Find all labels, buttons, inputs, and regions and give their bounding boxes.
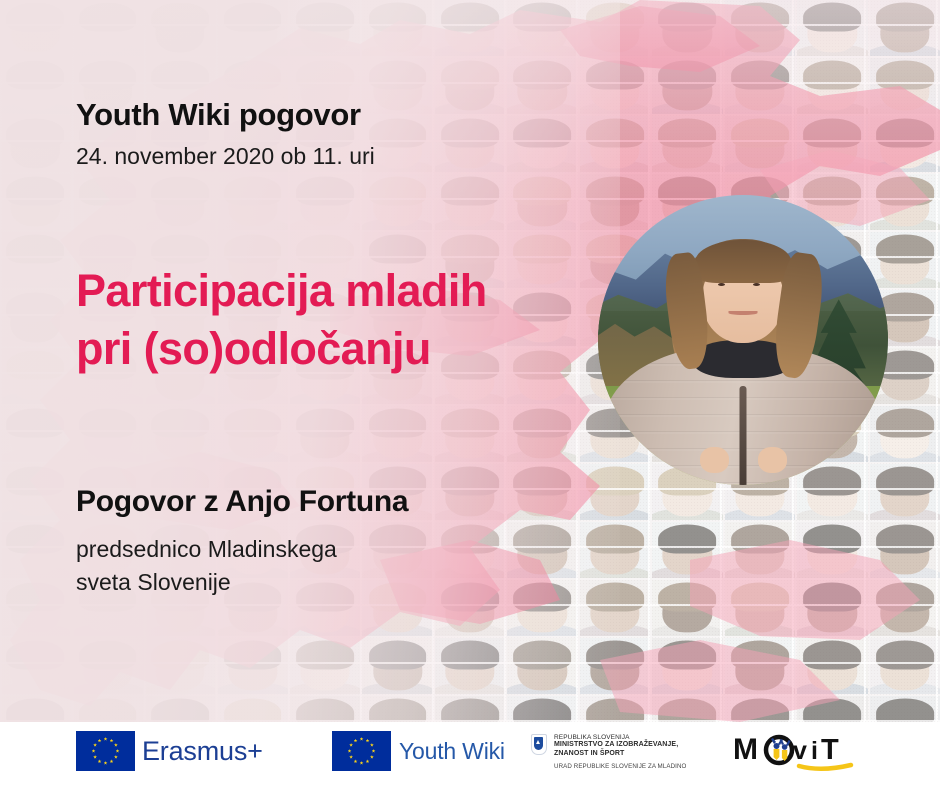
collage-face-tile xyxy=(145,406,215,462)
collage-face-tile xyxy=(72,638,142,694)
portrait-hair-top xyxy=(695,240,791,284)
collage-face-tile xyxy=(217,0,287,56)
collage-face-tile xyxy=(507,232,577,288)
collage-face-tile xyxy=(435,638,505,694)
event-poster: Youth Wiki pogovor 24. november 2020 ob … xyxy=(0,0,940,788)
collage-face-tile xyxy=(797,116,867,172)
collage-face-tile xyxy=(652,0,722,56)
page-title: Youth Wiki pogovor xyxy=(76,99,361,132)
svg-text:v: v xyxy=(793,737,807,765)
movit-logo: M v i T xyxy=(733,728,861,778)
collage-face-tile xyxy=(507,638,577,694)
collage-face-tile xyxy=(580,58,650,114)
collage-face-tile xyxy=(507,580,577,636)
footer-logo-bar: Erasmus+ Youth Wiki REPUBLIKA SLOVENIJA … xyxy=(0,722,940,788)
collage-face-tile xyxy=(725,638,795,694)
collage-face-tile xyxy=(580,0,650,56)
collage-face-tile xyxy=(0,580,70,636)
collage-face-tile xyxy=(0,58,70,114)
collage-face-tile xyxy=(145,0,215,56)
collage-face-tile xyxy=(652,58,722,114)
collage-face-tile xyxy=(217,406,287,462)
portrait-mouth xyxy=(729,311,758,315)
collage-face-tile xyxy=(725,580,795,636)
collage-face-tile xyxy=(362,0,432,56)
collage-face-tile xyxy=(435,522,505,578)
collage-face-tile xyxy=(290,406,360,462)
collage-face-tile xyxy=(797,0,867,56)
collage-face-tile xyxy=(870,0,940,56)
collage-face-tile xyxy=(290,696,360,722)
collage-face-tile xyxy=(72,696,142,722)
collage-face-tile xyxy=(72,0,142,56)
collage-face-tile xyxy=(797,58,867,114)
collage-face-tile xyxy=(0,232,70,288)
event-datetime: 24. november 2020 ob 11. uri xyxy=(76,143,375,169)
collage-face-tile xyxy=(580,116,650,172)
youth-wiki-logo: Youth Wiki xyxy=(332,731,505,771)
portrait-hand-left xyxy=(700,447,729,473)
collage-face-tile xyxy=(435,116,505,172)
collage-face-tile xyxy=(507,522,577,578)
speaker-role-line-2: sveta Slovenije xyxy=(76,566,337,599)
collage-face-tile xyxy=(870,638,940,694)
portrait-jacket-zipper xyxy=(740,386,747,485)
collage-face-tile xyxy=(362,174,432,230)
collage-face-tile xyxy=(797,696,867,722)
collage-face-tile xyxy=(362,580,432,636)
collage-face-tile xyxy=(507,290,577,346)
headline-line-2: pri (so)odločanju xyxy=(76,320,487,378)
speaker-portrait xyxy=(598,195,888,485)
collage-face-tile xyxy=(435,696,505,722)
ministry-line-2: MINISTRSTVO ZA IZOBRAŽEVANJE, xyxy=(554,741,686,750)
collage-face-tile xyxy=(725,522,795,578)
collage-face-tile xyxy=(725,58,795,114)
collage-face-tile xyxy=(725,0,795,56)
collage-face-tile xyxy=(435,580,505,636)
speaker-role-line-1: predsednico Mladinskega xyxy=(76,533,337,566)
headline-line-1: Participacija mladih xyxy=(76,262,487,320)
collage-face-tile xyxy=(290,638,360,694)
collage-face-tile xyxy=(507,406,577,462)
ministry-line-1: REPUBLIKA SLOVENIJA xyxy=(554,734,686,741)
collage-face-tile xyxy=(652,638,722,694)
collage-face-tile xyxy=(870,58,940,114)
portrait-hand-right xyxy=(758,447,787,473)
collage-face-tile xyxy=(797,580,867,636)
collage-face-tile xyxy=(0,696,70,722)
ministry-line-4: URAD REPUBLIKE SLOVENIJE ZA MLADINO xyxy=(554,763,686,770)
collage-face-tile xyxy=(145,638,215,694)
collage-face-tile xyxy=(72,174,142,230)
svg-text:M: M xyxy=(733,733,757,766)
collage-face-tile xyxy=(580,696,650,722)
collage-face-tile xyxy=(362,406,432,462)
collage-face-tile xyxy=(362,522,432,578)
collage-face-tile xyxy=(507,696,577,722)
collage-face-tile xyxy=(0,348,70,404)
collage-face-tile xyxy=(362,638,432,694)
eu-flag-icon xyxy=(76,731,135,771)
collage-face-tile xyxy=(0,174,70,230)
collage-face-tile xyxy=(362,58,432,114)
svg-text:T: T xyxy=(821,734,839,766)
headline: Participacija mladih pri (so)odločanju xyxy=(76,262,487,377)
collage-face-tile xyxy=(507,116,577,172)
collage-face-tile xyxy=(797,522,867,578)
collage-face-tile xyxy=(652,696,722,722)
collage-face-tile xyxy=(870,522,940,578)
collage-face-tile xyxy=(217,174,287,230)
collage-face-tile xyxy=(0,406,70,462)
collage-face-tile xyxy=(0,522,70,578)
collage-face-tile xyxy=(0,638,70,694)
collage-face-tile xyxy=(435,0,505,56)
collage-face-tile xyxy=(145,174,215,230)
collage-face-tile xyxy=(507,464,577,520)
collage-face-tile xyxy=(797,638,867,694)
collage-face-tile xyxy=(870,696,940,722)
svg-text:i: i xyxy=(811,737,818,765)
collage-face-tile xyxy=(507,174,577,230)
collage-face-tile xyxy=(72,406,142,462)
collage-face-tile xyxy=(870,116,940,172)
collage-face-tile xyxy=(435,58,505,114)
collage-face-tile xyxy=(435,464,505,520)
erasmus-plus-label: Erasmus+ xyxy=(142,736,263,767)
collage-face-tile xyxy=(217,696,287,722)
collage-face-tile xyxy=(652,522,722,578)
collage-face-tile xyxy=(0,464,70,520)
collage-face-tile xyxy=(435,406,505,462)
ministry-logo: REPUBLIKA SLOVENIJA MINISTRSTVO ZA IZOBR… xyxy=(531,734,686,770)
collage-face-tile xyxy=(435,174,505,230)
collage-face-tile xyxy=(652,116,722,172)
collage-face-tile xyxy=(290,174,360,230)
collage-face-tile xyxy=(290,0,360,56)
collage-face-tile xyxy=(870,580,940,636)
collage-face-tile xyxy=(725,696,795,722)
eu-flag-icon xyxy=(332,731,391,771)
erasmus-plus-logo: Erasmus+ xyxy=(76,731,263,771)
collage-face-tile xyxy=(725,116,795,172)
collage-face-tile xyxy=(362,696,432,722)
collage-face-tile xyxy=(580,580,650,636)
speaker-name: Pogovor z Anjo Fortuna xyxy=(76,485,408,519)
collage-face-tile xyxy=(217,638,287,694)
collage-face-tile xyxy=(507,0,577,56)
speaker-role: predsednico Mladinskega sveta Slovenije xyxy=(76,533,337,598)
collage-face-tile xyxy=(507,58,577,114)
youth-wiki-label: Youth Wiki xyxy=(399,738,505,765)
collage-face-tile xyxy=(145,696,215,722)
collage-face-tile xyxy=(580,638,650,694)
collage-face-tile xyxy=(0,290,70,346)
collage-face-tile xyxy=(0,0,70,56)
collage-face-tile xyxy=(580,522,650,578)
collage-face-tile xyxy=(507,348,577,404)
ministry-text-block: REPUBLIKA SLOVENIJA MINISTRSTVO ZA IZOBR… xyxy=(554,734,686,770)
ministry-line-3: ZNANOST IN ŠPORT xyxy=(554,750,686,759)
collage-face-tile xyxy=(652,580,722,636)
collage-face-tile xyxy=(0,116,70,172)
slovenia-coat-of-arms-icon xyxy=(531,734,547,755)
